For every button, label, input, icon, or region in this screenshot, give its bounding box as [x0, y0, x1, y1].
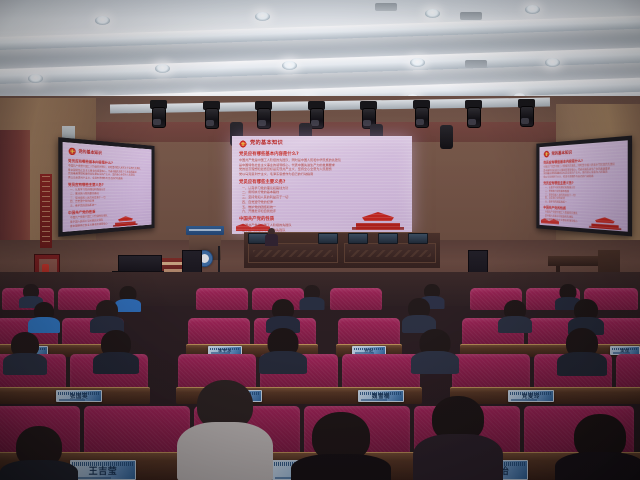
- auditorium-seat[interactable]: [330, 288, 382, 310]
- ceiling-air-vent: [375, 3, 397, 11]
- slide-question-2: 党员应有哪些主要义务?: [239, 179, 405, 185]
- party-emblem-icon: [239, 140, 247, 148]
- wall-notice-sign-red: [40, 174, 52, 248]
- moving-head-stage-light: [413, 100, 430, 130]
- audience-member: [92, 300, 122, 328]
- main-projection-screen: 党的基本知识 党员应有哪些基本内容是什么? 中国共产党是中国工人阶级的先锋队，同…: [232, 136, 412, 234]
- audience-member: [560, 414, 640, 480]
- desk-monitor: [318, 233, 338, 244]
- right-screen-body-1: 中国共产党是中国工人阶级的先锋队，同时是中国人民和中华民族的先锋队 是中国特色社…: [543, 162, 622, 179]
- seat-nametag: 张国英: [56, 390, 102, 402]
- audience-member: [300, 285, 323, 306]
- ceiling-downlight: [525, 5, 540, 14]
- desk-monitor: [348, 233, 368, 244]
- auditorium-scene-photo: 党的基本知识 党员应有哪些基本内容是什么? 中国共产党是中国工人阶级的先锋队，同…: [0, 0, 640, 480]
- left-projection-screen: 党的基本知识 党员应有哪些基本内容是什么? 中国共产党是中国工人阶级的先锋队，同…: [58, 137, 154, 237]
- slide-title-row: 党的基本知识: [239, 140, 405, 148]
- seat-nametag: 王吉莹: [70, 460, 136, 480]
- audience-member: [182, 380, 268, 480]
- right-projection-screen: 党的基本知识 党员应有哪些基本内容是什么? 中国共产党是中国工人阶级的先锋队，同…: [536, 136, 632, 237]
- auditorium-seat[interactable]: [342, 354, 420, 390]
- moving-head-stage-light: [518, 99, 535, 129]
- audience-member: [414, 329, 456, 368]
- seat-nametag: 党麦玲: [508, 390, 554, 402]
- audience-member: [96, 330, 136, 368]
- moving-head-stage-light: [150, 100, 167, 130]
- party-emblem-icon: [543, 150, 549, 158]
- ceiling-downlight: [155, 64, 170, 73]
- seated-presenter: [265, 228, 278, 246]
- tiananmen-gate-graphic: [352, 208, 404, 230]
- ceiling-downlight: [425, 9, 440, 18]
- ceiling-air-vent: [460, 12, 482, 20]
- audience-member: [560, 328, 604, 368]
- moving-head-stage-light: [440, 125, 453, 149]
- left-screen-body-1: 中国共产党是中国工人阶级的先锋队，同时是中国人民和中华民族的先锋队 是中国特色社…: [68, 164, 148, 181]
- left-screen-list-2: 一、认真学习党的理论和路线方针 二、贯彻执行党的基本路线 三、坚持党和人民的利益…: [68, 188, 148, 208]
- auditorium-seat[interactable]: [84, 406, 190, 456]
- audience-member: [4, 426, 74, 480]
- audience-member: [500, 300, 530, 328]
- seat-nametag-label: 王吉莹: [71, 464, 135, 478]
- tiananmen-gate-graphic: [589, 214, 621, 230]
- ceiling-downlight: [282, 61, 297, 70]
- audience-seating: 郑钰婷 李宇冰 孙妃 吴佳: [0, 284, 640, 480]
- desk-monitor: [408, 233, 428, 244]
- ceiling-downlight: [255, 12, 270, 21]
- ceiling-downlight: [410, 58, 425, 67]
- auditorium-seat[interactable]: [452, 354, 530, 390]
- auditorium-seat[interactable]: [338, 318, 400, 346]
- moving-head-stage-light: [465, 100, 482, 130]
- slide-title: 党的基本知识: [250, 141, 283, 146]
- moving-head-stage-light: [255, 101, 272, 131]
- auditorium-seat[interactable]: [188, 318, 250, 346]
- tiananmen-gate-graphic: [113, 213, 137, 226]
- audience-member: [262, 328, 304, 368]
- desk-monitor: [378, 233, 398, 244]
- seat-nametag: 魏雪楠: [358, 390, 404, 402]
- audience-member: [296, 412, 386, 480]
- ceiling-downlight: [95, 16, 110, 25]
- audience-member: [20, 284, 42, 304]
- right-screen-list-2: 一、认真学习党的理论和路线方针 二、贯彻执行党的基本路线 三、坚持党和人民的利益…: [543, 186, 622, 206]
- slide-body-1: 中国共产党是中国工人阶级的先锋队，同时是中国人民和中华民族的先锋队 是中国特色社…: [239, 158, 405, 177]
- party-emblem-icon: [68, 147, 76, 156]
- right-screen-question-2: 党员应有哪些主要义务?: [543, 180, 622, 185]
- audience-member: [6, 332, 44, 368]
- slide-question-1: 党员应有哪些基本内容是什么?: [239, 151, 405, 157]
- ceiling-air-vent: [465, 60, 487, 68]
- auditorium-seat[interactable]: [196, 288, 248, 310]
- audience-member: [418, 396, 498, 480]
- left-screen-title: 党的基本知识: [78, 149, 101, 157]
- audience-member: [570, 299, 602, 329]
- ceiling-downlight: [545, 58, 560, 67]
- left-screen-question-2: 党员应有哪些主要义务?: [68, 182, 148, 187]
- audience-member: [30, 302, 58, 328]
- ceiling-downlight: [28, 74, 43, 83]
- audience-member: [404, 298, 434, 328]
- ceiling: [0, 0, 640, 104]
- auditorium-seat[interactable]: [616, 354, 640, 390]
- moving-head-stage-light: [203, 101, 220, 131]
- audience-member: [268, 299, 298, 328]
- right-screen-title: 党的基本知识: [551, 150, 571, 157]
